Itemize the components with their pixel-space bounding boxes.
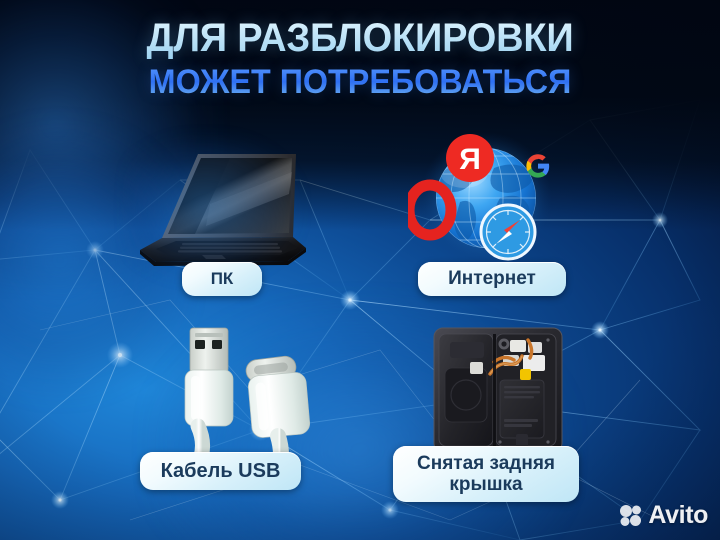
label-pc: ПК (182, 262, 262, 296)
safari-icon (481, 205, 535, 259)
svg-text:Я: Я (459, 143, 481, 176)
usb-a-connector (185, 328, 233, 468)
label-usb-cable: Кабель USB (140, 452, 301, 490)
opened-phone-illustration (424, 322, 572, 460)
internet-illustration: Я (408, 132, 578, 268)
globe-browsers-icon: Я (408, 132, 578, 268)
label-back-cover-line-2: крышка (449, 474, 522, 495)
headline-line-1: ДЛЯ РАЗБЛОКИРОВКИ (18, 17, 702, 60)
laptop-icon (110, 142, 310, 270)
usb-cable-icon (150, 318, 340, 468)
headline: ДЛЯ РАЗБЛОКИРОВКИ МОЖЕТ ПОТРЕБОВАТЬСЯ (0, 17, 720, 101)
label-back-cover: Снятая задняя крышка (393, 446, 579, 502)
avito-wordmark: Avito (648, 501, 708, 530)
avito-dots-icon (619, 504, 643, 528)
label-back-cover-line-1: Снятая задняя (417, 453, 555, 474)
listing-image: ДЛЯ РАЗБЛОКИРОВКИ МОЖЕТ ПОТРЕБОВАТЬСЯ (0, 0, 720, 540)
laptop-glow (130, 138, 298, 278)
avito-watermark: Avito (619, 501, 708, 530)
headline-line-2: МОЖЕТ ПОТРЕБОВАТЬСЯ (18, 64, 702, 101)
usb-cable-illustration (150, 318, 340, 468)
label-internet: Интернет (418, 262, 566, 296)
yandex-icon: Я (446, 134, 494, 182)
opened-phone-icon (424, 322, 572, 460)
